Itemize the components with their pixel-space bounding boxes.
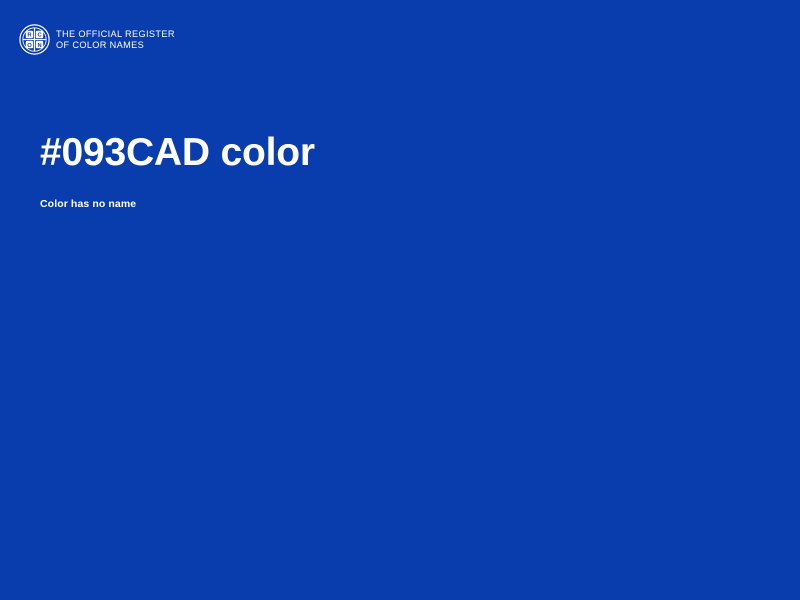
page-title: #093CAD color (40, 130, 315, 176)
main-content: #093CAD color Color has no name (0, 0, 800, 600)
color-page: R C O N THE OFFICIAL REGISTER OF COLOR N… (0, 0, 800, 600)
color-name-status: Color has no name (40, 198, 136, 212)
